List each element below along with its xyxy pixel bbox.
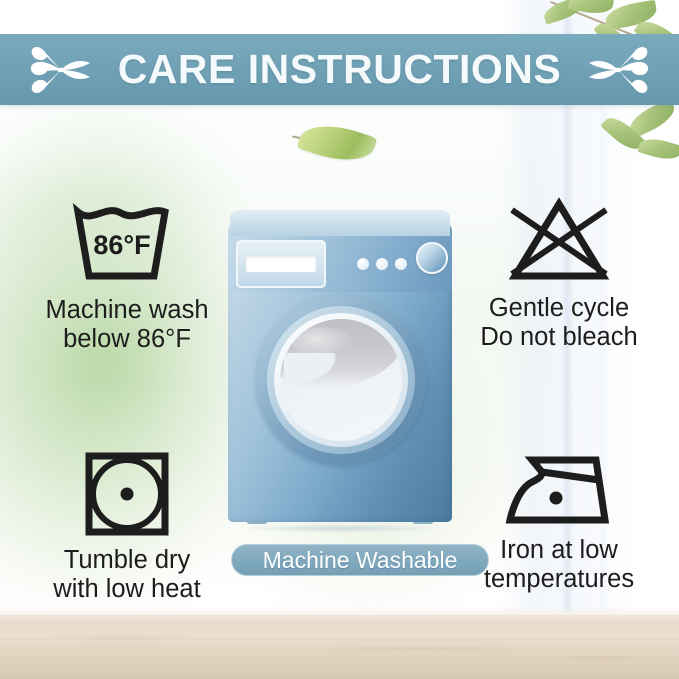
care-symbol-machine-wash: 86°F Machine wash below 86°F	[22, 198, 232, 354]
care-symbol-tumble-dry: Tumble dry with low heat	[22, 448, 232, 604]
crossed-triangle-icon	[498, 196, 620, 288]
control-button	[395, 258, 407, 270]
wash-temperature-label: 86°F	[93, 230, 150, 260]
care-symbol-caption: Iron at low temperatures	[484, 536, 634, 594]
iron-one-dot-icon	[498, 450, 620, 530]
control-button	[357, 258, 369, 270]
glass-specular-highlight	[292, 327, 354, 357]
machine-top-lid	[230, 210, 450, 236]
washing-machine-illustration	[228, 210, 452, 534]
machine-washable-badge: Machine Washable	[231, 544, 489, 576]
care-symbol-caption: Tumble dry with low heat	[53, 546, 200, 604]
control-button	[376, 258, 388, 270]
machine-shadow	[238, 524, 442, 533]
wood-grain-texture-secondary	[0, 629, 679, 669]
header-banner: CARE INSTRUCTIONS	[0, 34, 679, 105]
care-instructions-poster: CARE INSTRUCTIONS 86°F Machine wash belo…	[0, 0, 679, 679]
page-title: CARE INSTRUCTIONS	[0, 34, 679, 105]
detergent-drawer-slot	[246, 256, 316, 272]
glass-swirl-highlight	[284, 353, 402, 423]
control-dial-knob	[416, 242, 448, 274]
wash-tub-icon: 86°F	[66, 198, 188, 290]
machine-door-glass	[280, 319, 402, 441]
care-symbol-caption: Gentle cycle Do not bleach	[480, 294, 637, 352]
tumble-dry-low-icon	[77, 448, 177, 540]
care-symbol-gentle-no-bleach: Gentle cycle Do not bleach	[448, 196, 670, 352]
care-symbol-caption: Machine wash below 86°F	[46, 296, 209, 354]
fleur-de-lis-icon	[585, 43, 651, 97]
